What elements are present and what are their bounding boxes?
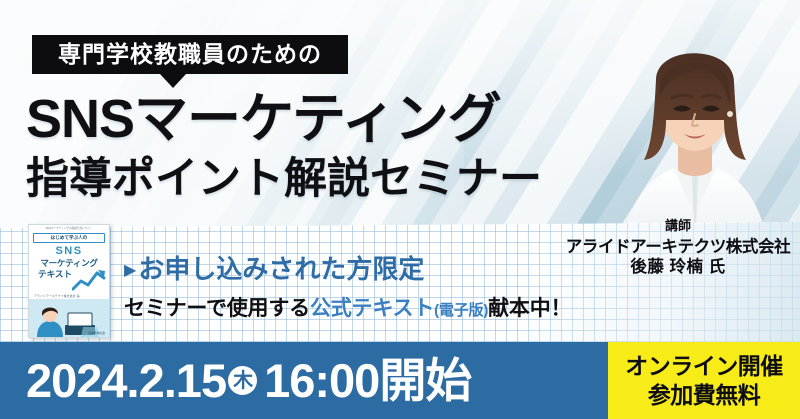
offer-subline-prefix: セミナーで使用する <box>124 297 310 320</box>
speaker-name: 後藤 玲楠 氏 <box>562 257 794 278</box>
weekday-badge: 木 <box>228 366 257 395</box>
eyebrow-ribbon: 専門学校教職員のための <box>32 35 348 74</box>
book-badge-text: はじめて学ぶ人の <box>33 233 105 243</box>
offer-subline-suffix: 献本中！ <box>488 297 571 320</box>
book-chart-icon <box>72 269 106 291</box>
eyebrow-notch-triangle <box>160 74 186 88</box>
offer-subline-note: (電子版) <box>434 302 488 319</box>
schedule-date: 2024.2.15 <box>26 357 226 404</box>
headline-line-1: SNSマーケティング <box>26 92 501 146</box>
seminar-banner: 専門学校教職員のための SNSマーケティング 指導ポイント解説セミナー 講師 ア… <box>0 0 800 419</box>
schedule-start-label: 開始 <box>379 357 471 404</box>
book-publisher-text: 日本能率協会 <box>88 331 105 335</box>
offer-subline: セミナーで使用する公式テキスト(電子版)献本中！ <box>124 298 571 319</box>
book-kicker-text: SNSマーケティングの基礎が身につく！ <box>33 228 105 231</box>
offer-headline: ▶お申し込みされた方限定 <box>124 256 424 282</box>
schedule-text: 2024.2.15 木 16:00 開始 <box>26 357 471 404</box>
book-author-text: アライドアーキテクツ株式会社 編 <box>34 294 80 298</box>
speaker-company: アライドアーキテクツ株式会社 <box>562 237 794 258</box>
badge-line-1: オンライン開催 <box>625 352 783 380</box>
speaker-role-label: 講師 <box>562 218 794 234</box>
textbook-cover: SNSマーケティングの基礎が身につく！ はじめて学ぶ人の SNS マーケティング… <box>28 224 110 338</box>
eyebrow-text: 専門学校教職員のための <box>32 35 348 74</box>
free-online-badge: オンライン開催 参加費無料 <box>608 342 800 419</box>
speaker-block: 講師 アライドアーキテクツ株式会社 後藤 玲楠 氏 <box>562 218 794 279</box>
book-title-line2: マーケティング <box>33 259 105 268</box>
triangle-right-icon: ▶ <box>124 262 136 279</box>
bottom-bar: 2024.2.15 木 16:00 開始 オンライン開催 参加費無料 <box>0 342 800 419</box>
headline-line-2: 指導ポイント解説セミナー <box>26 158 542 201</box>
book-title-main: SNS <box>33 246 105 257</box>
date-strip: 2024.2.15 木 16:00 開始 <box>0 342 608 419</box>
offer-subline-highlight: 公式テキスト <box>310 297 434 320</box>
offer-headline-text: お申し込みされた方限定 <box>138 254 424 284</box>
schedule-time: 16:00 <box>264 357 379 404</box>
badge-line-2: 参加費無料 <box>648 381 761 409</box>
